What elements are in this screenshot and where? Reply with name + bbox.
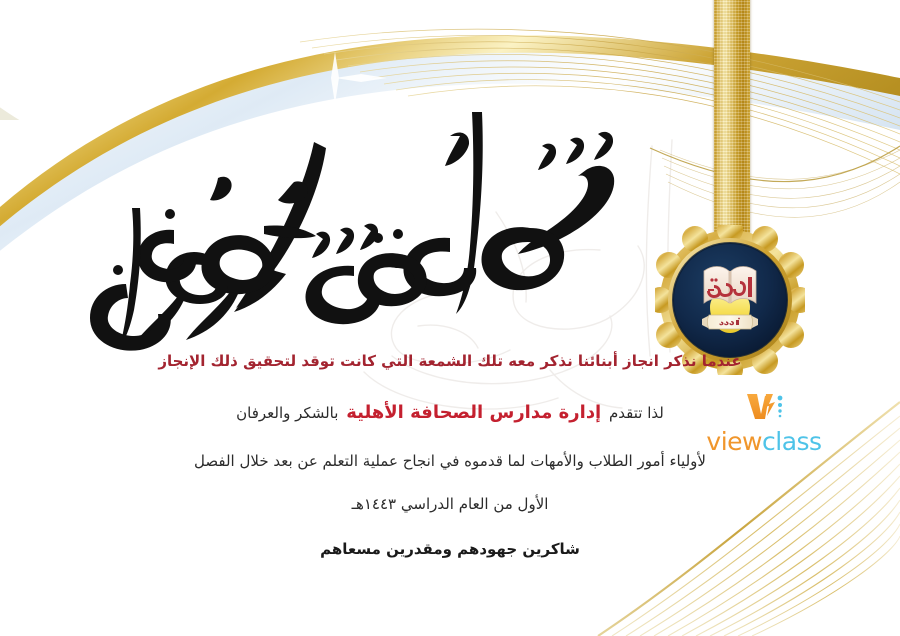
certificate-academic-year-line: الأول من العام الدراسي ١٤٤٣هـ (0, 495, 900, 514)
certificate-issuer-line: لذا تتقدم إدارة مدارس الصحافة الأهلية با… (0, 402, 900, 425)
certificate-recipient-line: لأولياء أمور الطلاب والأمهات لما قدموه ف… (0, 452, 900, 471)
certificate-quote-line: عندما نذكر انجاز أبنائنا نذكر معه تلك ال… (0, 352, 900, 371)
gold-ribbon-strap (714, 0, 750, 248)
certificate-closing-line: شاكرين جهودهم ومقدرين مسعاهم (0, 540, 900, 559)
issuer-organization: إدارة مدارس الصحافة الأهلية (343, 402, 604, 423)
issuer-prefix: لذا تتقدم (609, 404, 664, 422)
issuer-suffix: بالشكر والعرفان (236, 404, 338, 422)
school-emblem (696, 255, 764, 347)
certificate-canvas: شهادة شكر وعرفان (0, 0, 900, 636)
certificate-body: عندما نذكر انجاز أبنائنا نذكر معه تلك ال… (0, 352, 900, 559)
certificate-title-calligraphy: شهادة شكر وعرفان (78, 78, 648, 358)
